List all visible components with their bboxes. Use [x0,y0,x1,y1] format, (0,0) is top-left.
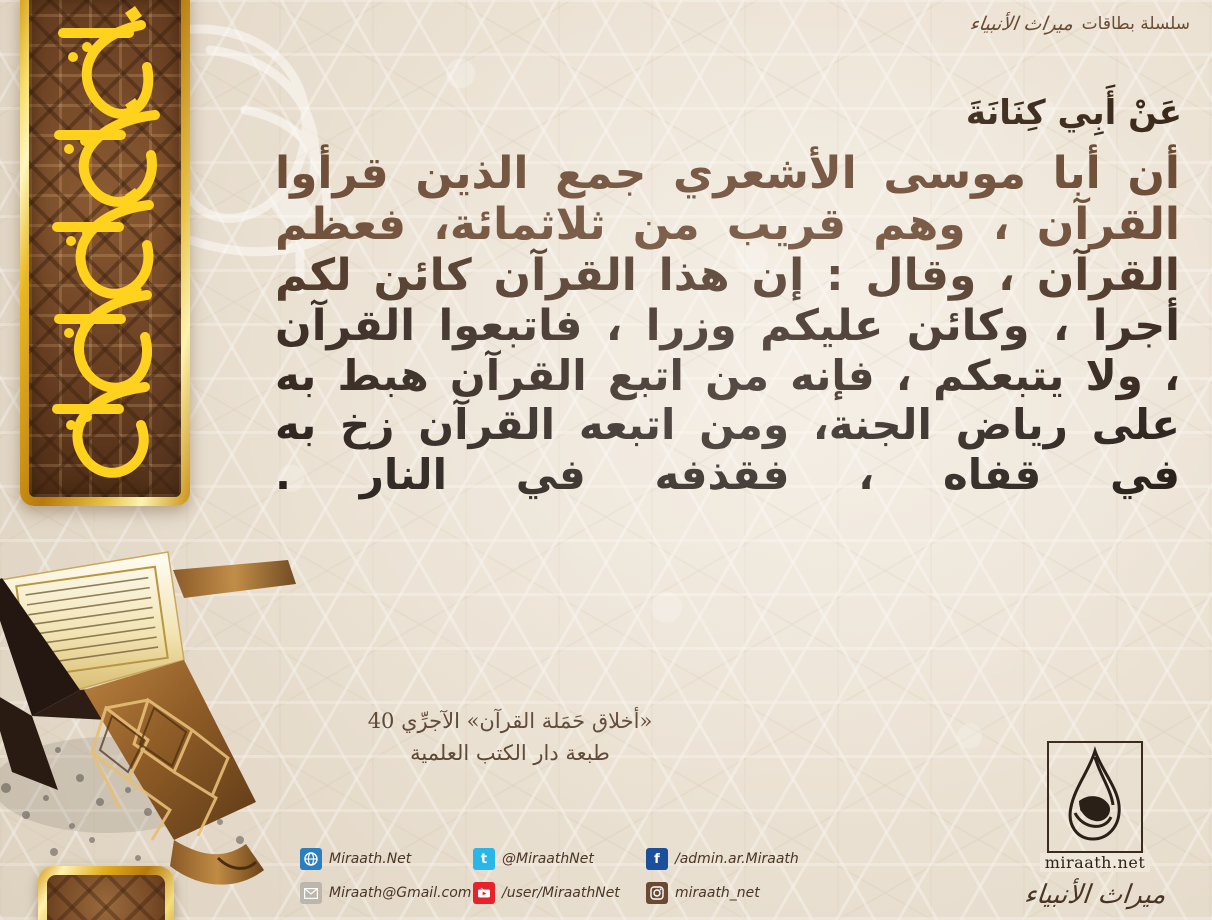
logo-url-text: miraath.net [1040,853,1151,872]
social-link-facebook[interactable]: f /admin.ar.Miraath [646,844,801,874]
main-content: عَنْ أَبِي كِنَانَةَ أن أبا موسى الأشعري… [247,0,1202,498]
social-label: /user/MiraathNet [502,885,620,901]
logo-frame [1047,741,1143,853]
gold-plaque-pattern [47,875,165,920]
citation-edition: طبعة دار الكتب العلمية [300,738,720,770]
narrator-line: عَنْ أَبِي كِنَانَةَ [247,92,1182,135]
envelope-icon [300,882,322,904]
social-links-bar: Miraath.Net t @MiraathNet f /admin.ar.Mi… [300,844,801,908]
social-link-instagram[interactable]: miraath_net [646,878,801,908]
social-link-twitter[interactable]: t @MiraathNet [473,844,628,874]
narration-line: أن أبا موسى الأشعري جمع الذين قرأوا [275,149,1180,198]
narration-line: على رياض الجنة، ومن اتبعه القرآن زخ به [275,401,1180,448]
social-link-website[interactable]: Miraath.Net [300,844,455,874]
quran-on-rehal-illustration [0,540,318,910]
narration-line: ، ولا يتبعكم ، فإنه من اتبع القرآن هبط ب… [275,352,1180,399]
social-label: miraath_net [675,885,760,901]
narration-line: القرآن ، وهم قريب من ثلاثمائة، فعظم [275,200,1180,249]
social-label: Miraath.Net [329,851,411,867]
narration-line: أجرا ، وكائن عليكم وزرا ، فاتبعوا القرآن [275,302,1180,350]
narration-line: في قفاه ، فقذفه في النار . [275,451,1180,498]
social-link-email[interactable]: Miraath@Gmail.com [300,878,455,908]
social-label: @MiraathNet [502,851,594,867]
ornate-gold-panel [20,0,190,506]
youtube-icon [473,882,495,904]
globe-icon [300,848,322,870]
brand-logo-block[interactable]: miraath.net ميراث الأنبياء [1020,741,1170,910]
narration-line: القرآن ، وقال : إن هذا القرآن كائن لكم [275,251,1180,300]
citation-source: «أخلاق حَمَلة القرآن» الآجرِّي 40 [300,706,720,738]
gold-panel-inner-pattern [29,0,181,497]
instagram-icon [646,882,668,904]
social-link-youtube[interactable]: /user/MiraathNet [473,878,628,908]
hadith-card: سلسلة بطاقات ميراث الأنبياء [0,0,1212,920]
logo-arabic-wordmark: ميراث الأنبياء [1018,880,1171,910]
twitter-icon: t [473,848,495,870]
social-label: Miraath@Gmail.com [329,885,471,901]
social-label: /admin.ar.Miraath [675,851,799,867]
narration-body: أن أبا موسى الأشعري جمع الذين قرأوا القر… [275,149,1180,498]
gold-corner-plaque [38,866,174,920]
facebook-icon: f [646,848,668,870]
gold-calligraphy-art [29,0,181,497]
